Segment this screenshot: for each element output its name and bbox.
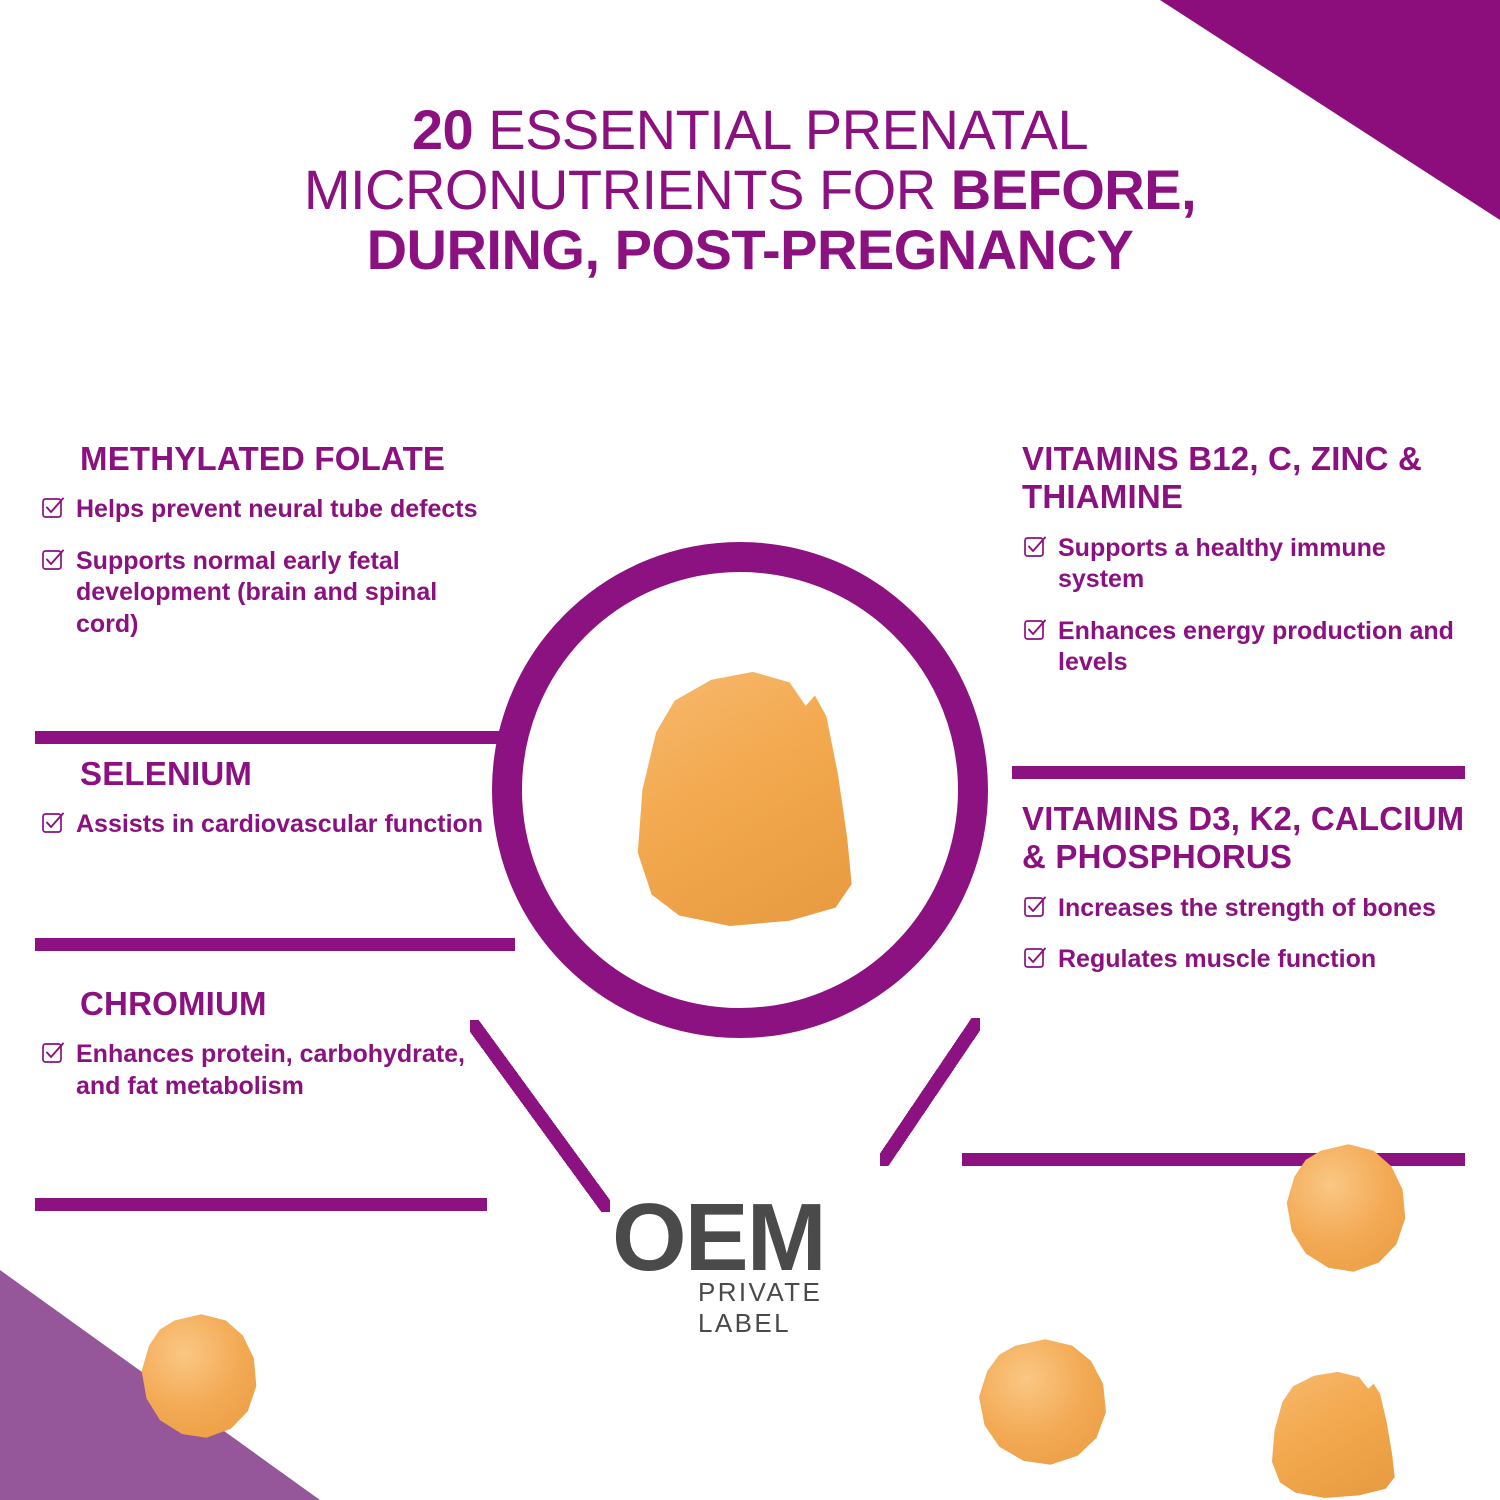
bullet-text: Enhances energy production and levels [1058, 616, 1462, 679]
list-item: Supports normal early fetal development … [40, 546, 490, 641]
checkbox-check-icon [1022, 896, 1046, 922]
title-line-3-bold: DURING, POST-PREGNANCY [367, 218, 1134, 281]
connector-right-bottom-horizontal [962, 1153, 1465, 1166]
logo-tagline: PRIVATE LABEL [698, 1277, 912, 1339]
section-chromium: CHROMIUM Enhances protein, carbohydrate,… [40, 985, 470, 1102]
checkbox-check-icon [40, 497, 64, 523]
bullet-list: Supports a healthy immune system Enhance… [1022, 533, 1462, 679]
section-heading: METHYLATED FOLATE [40, 440, 490, 478]
checkbox-check-icon [40, 549, 64, 575]
list-item: Helps prevent neural tube defects [40, 494, 490, 526]
page-title: 20 ESSENTIAL PRENATAL MICRONUTRIENTS FOR… [0, 100, 1500, 280]
list-item: Enhances energy production and levels [1022, 616, 1462, 679]
bullet-text: Supports a healthy immune system [1058, 533, 1462, 596]
list-item: Supports a healthy immune system [1022, 533, 1462, 596]
list-item: Regulates muscle function [1022, 944, 1472, 976]
bullet-text: Assists in cardiovascular function [76, 809, 483, 841]
title-line-2-bold: BEFORE, [951, 158, 1196, 221]
bullet-list: Increases the strength of bones Regulate… [1022, 893, 1472, 976]
section-selenium: SELENIUM Assists in cardiovascular funct… [40, 755, 490, 841]
bullet-list: Enhances protein, carbohydrate, and fat … [40, 1039, 470, 1102]
section-vitamins-d3-k2-calcium-phosphorus: VITAMINS D3, K2, CALCIUM & PHOSPHORUS In… [1022, 800, 1472, 976]
list-item: Assists in cardiovascular function [40, 809, 490, 841]
connector-right-top [1012, 766, 1465, 779]
connector-left-bottom-horizontal [35, 1198, 487, 1211]
bullet-text: Supports normal early fetal development … [76, 546, 490, 641]
logo-wordmark: OEM [612, 1192, 912, 1283]
section-methylated-folate: METHYLATED FOLATE Helps prevent neural t… [40, 440, 490, 640]
title-line-1: 20 ESSENTIAL PRENATAL [0, 100, 1500, 160]
title-line-3: DURING, POST-PREGNANCY [0, 220, 1500, 280]
connector-right-bottom-diagonal [880, 1018, 980, 1166]
connector-left-top [35, 731, 515, 744]
product-highlight-circle [492, 542, 988, 1038]
section-heading: CHROMIUM [40, 985, 470, 1023]
checkbox-check-icon [40, 1042, 64, 1068]
brand-logo: OEM PRIVATE LABEL [612, 1192, 912, 1320]
bullet-text: Increases the strength of bones [1058, 893, 1436, 925]
list-item: Increases the strength of bones [1022, 893, 1472, 925]
title-line-1-rest: ESSENTIAL PRENATAL [473, 98, 1088, 161]
title-line-2-normal: MICRONUTRIENTS FOR [304, 158, 951, 221]
title-number: 20 [412, 98, 473, 161]
bullet-text: Regulates muscle function [1058, 944, 1376, 976]
bullet-text: Helps prevent neural tube defects [76, 494, 478, 526]
bullet-text: Enhances protein, carbohydrate, and fat … [76, 1039, 470, 1102]
gummy-decoration-bottom-right [1264, 1368, 1396, 1498]
section-vitamins-b12-c-zinc-thiamine: VITAMINS B12, C, ZINC & THIAMINE Support… [1022, 440, 1462, 679]
section-heading: VITAMINS B12, C, ZINC & THIAMINE [1022, 440, 1462, 517]
section-heading: VITAMINS D3, K2, CALCIUM & PHOSPHORUS [1022, 800, 1472, 877]
checkbox-check-icon [1022, 619, 1046, 645]
connector-left-bottom-diagonal [470, 1020, 610, 1212]
section-heading: SELENIUM [40, 755, 490, 793]
bullet-list: Helps prevent neural tube defects Suppor… [40, 494, 490, 640]
checkbox-check-icon [1022, 947, 1046, 973]
connector-left-middle [35, 938, 515, 951]
checkbox-check-icon [1022, 536, 1046, 562]
checkbox-check-icon [40, 812, 64, 838]
gummy-decoration-bottom-middle [975, 1338, 1110, 1466]
list-item: Enhances protein, carbohydrate, and fat … [40, 1039, 470, 1102]
title-line-2: MICRONUTRIENTS FOR BEFORE, [0, 160, 1500, 220]
bullet-list: Assists in cardiovascular function [40, 809, 490, 841]
